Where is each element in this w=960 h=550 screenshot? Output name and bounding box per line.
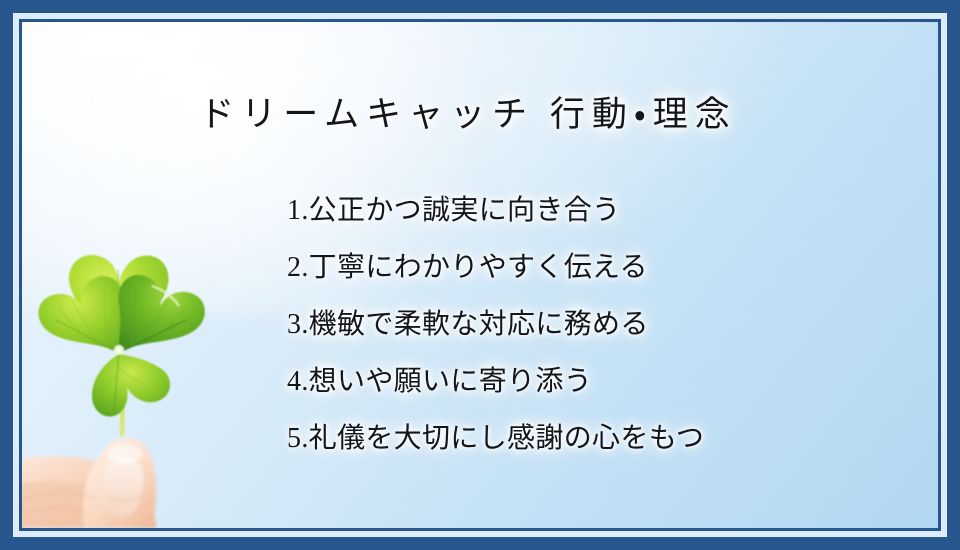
list-item: 5.礼儀を大切にし感謝の心をもつ: [287, 410, 704, 467]
list-item: 4.想いや願いに寄り添う: [287, 353, 704, 410]
list-item: 3.機敏で柔軟な対応に務める: [287, 296, 704, 353]
philosophy-banner: ドリームキャッチ 行動・理念 1.公正かつ誠実に向き合う 2.丁寧にわかりやすく…: [0, 0, 960, 550]
page-title: ドリームキャッチ 行動・理念: [22, 93, 938, 137]
text-layer: ドリームキャッチ 行動・理念 1.公正かつ誠実に向き合う 2.丁寧にわかりやすく…: [22, 22, 938, 528]
photo-frame: ドリームキャッチ 行動・理念 1.公正かつ誠実に向き合う 2.丁寧にわかりやすく…: [19, 19, 941, 531]
principles-list: 1.公正かつ誠実に向き合う 2.丁寧にわかりやすく伝える 3.機敏で柔軟な対応に…: [287, 182, 704, 467]
list-item: 1.公正かつ誠実に向き合う: [287, 182, 704, 239]
list-item: 2.丁寧にわかりやすく伝える: [287, 239, 704, 296]
